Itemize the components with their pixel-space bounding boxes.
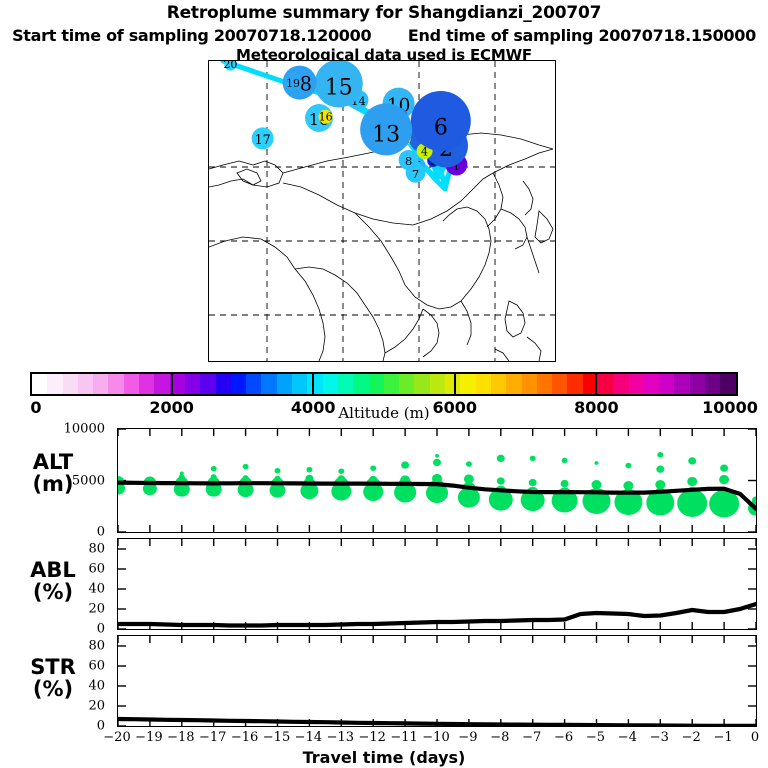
- x-tick-label--12: −12: [358, 730, 385, 745]
- colorbar-cell-32: [522, 374, 537, 394]
- day-marker-label: 8: [405, 154, 412, 168]
- alt-scatter-point: [370, 465, 376, 471]
- colorbar-cell-12: [216, 374, 231, 394]
- colorbar-cell-21: [353, 374, 368, 394]
- x-tick-label--19: −19: [135, 730, 162, 745]
- colorbar-cell-27: [445, 374, 460, 394]
- colorbar-cell-28: [460, 374, 475, 394]
- x-tick-label--2: −2: [682, 730, 701, 745]
- day-marker-20[interactable]: 20: [223, 61, 237, 71]
- colorbar-cell-8: [154, 374, 169, 394]
- x-tick-label--18: −18: [167, 730, 194, 745]
- alt-scatter-point: [625, 463, 631, 469]
- colorbar-cell-39: [629, 374, 644, 394]
- x-tick-label--9: −9: [458, 730, 477, 745]
- alt-scatter-point: [687, 477, 697, 486]
- sampling-times: Start time of sampling 20070718.120000 E…: [0, 26, 768, 45]
- colorbar-cell-43: [690, 374, 705, 394]
- colorbar-gradient: [30, 372, 738, 396]
- alt-scatter-point: [529, 479, 537, 486]
- colorbar-separator-2000: [171, 372, 173, 396]
- day-marker-13[interactable]: 13: [360, 103, 412, 155]
- colorbar-cell-33: [537, 374, 552, 394]
- abl-plot: [118, 539, 756, 629]
- alt-scatter-point: [497, 455, 505, 462]
- alt-scatter-point: [275, 476, 281, 482]
- colorbar-cell-13: [231, 374, 246, 394]
- alt-plot: [118, 429, 756, 532]
- alt-scatter-point: [433, 459, 441, 466]
- alt-scatter-point: [530, 456, 536, 462]
- travel-time-tick-labels: −20−19−18−17−16−15−14−13−12−11−10−9−8−7−…: [117, 730, 757, 748]
- colorbar-cell-30: [491, 374, 506, 394]
- x-tick-label--11: −11: [390, 730, 417, 745]
- abl-panel[interactable]: [117, 538, 757, 630]
- alt-scatter-point: [275, 468, 281, 474]
- alt-scatter-point: [435, 454, 439, 458]
- day-marker-label: 13: [372, 122, 400, 147]
- alt-scatter-point: [595, 461, 599, 465]
- alt-scatter-point: [719, 475, 729, 484]
- colorbar-cell-10: [185, 374, 200, 394]
- alt-scatter-point: [562, 458, 568, 464]
- alt-scatter-point: [720, 464, 728, 471]
- x-tick-label--7: −7: [522, 730, 541, 745]
- alt-scatter-point: [305, 475, 313, 482]
- colorbar-cell-6: [124, 374, 139, 394]
- alt-scatter-point: [338, 468, 344, 474]
- colorbar-cell-26: [430, 374, 445, 394]
- x-tick-label--8: −8: [490, 730, 509, 745]
- alt-scatter-point: [211, 474, 217, 480]
- alt-scatter-point: [180, 471, 184, 475]
- str-x-ticks: [118, 636, 756, 726]
- day-marker-label: 17: [255, 132, 271, 147]
- y-tick-label-20: 20: [88, 699, 113, 714]
- alt-scatter-point: [497, 477, 505, 484]
- colorbar-title: Altitude (m): [0, 404, 768, 422]
- colorbar-cell-19: [323, 374, 338, 394]
- end-time-label: End time of sampling 20070718.150000: [408, 26, 756, 45]
- alt-scatter-point: [306, 467, 312, 473]
- str-panel[interactable]: [117, 635, 757, 727]
- colorbar-cell-34: [552, 374, 567, 394]
- str-tick-labels: 020406080: [0, 0, 113, 768]
- colorbar-cell-14: [246, 374, 261, 394]
- day-marker-8[interactable]: 8: [399, 150, 419, 170]
- colorbar-cell-38: [613, 374, 628, 394]
- alt-scatter-point: [657, 452, 663, 458]
- alt-scatter-point: [592, 480, 602, 489]
- colorbar-cell-40: [644, 374, 659, 394]
- colorbar-cell-15: [261, 374, 276, 394]
- colorbar-separator-4000: [312, 372, 314, 396]
- day-marker-label: 15: [325, 76, 353, 101]
- alt-scatter-point: [655, 480, 665, 489]
- colorbar-cell-17: [292, 374, 307, 394]
- alt-scatter-point: [243, 464, 249, 470]
- alt-scatter-point: [677, 489, 707, 517]
- day-marker-label: 20: [223, 61, 237, 71]
- x-tick-label-0: 0: [751, 730, 759, 745]
- colorbar-cell-41: [659, 374, 674, 394]
- alt-scatter-point: [688, 457, 696, 464]
- x-tick-label--5: −5: [586, 730, 605, 745]
- colorbar-separator-8000: [595, 372, 597, 396]
- colorbar-cell-16: [277, 374, 292, 394]
- y-tick-label-80: 80: [88, 639, 113, 654]
- x-tick-label--20: −20: [103, 730, 130, 745]
- alt-scatter-point: [623, 481, 633, 490]
- colorbar-cell-7: [139, 374, 154, 394]
- colorbar-cell-44: [705, 374, 720, 394]
- alt-scatter-point: [401, 461, 409, 468]
- colorbar-cell-24: [399, 374, 414, 394]
- retroplume-map[interactable]: 1223456789101112131415161617181920: [208, 60, 556, 362]
- y-tick-label-40: 40: [88, 679, 113, 694]
- str-y-ticks: [118, 646, 756, 726]
- altitude-colorbar: 0200040006000800010000: [30, 372, 738, 396]
- colorbar-cell-42: [674, 374, 689, 394]
- alt-scatter-point: [464, 474, 474, 483]
- colorbar-cell-29: [476, 374, 491, 394]
- day-markers: 1223456789101112131415161617181920: [223, 61, 470, 183]
- day-marker-19[interactable]: 19: [284, 73, 302, 91]
- alt-scatter-point: [243, 475, 249, 481]
- day-marker-label: 16: [319, 111, 333, 124]
- colorbar-cell-25: [414, 374, 429, 394]
- colorbar-cell-22: [369, 374, 384, 394]
- map-svg: 1223456789101112131415161617181920: [209, 61, 555, 361]
- alt-scatter-point: [466, 461, 472, 467]
- colorbar-cell-11: [200, 374, 215, 394]
- alt-scatter-point: [211, 466, 217, 472]
- page-title: Retroplume summary for Shangdianzi_20070…: [0, 3, 768, 23]
- colorbar-cell-37: [598, 374, 613, 394]
- alt-scatter-point: [656, 465, 664, 472]
- day-marker-label: 6: [434, 116, 448, 141]
- day-marker-15[interactable]: 15: [315, 61, 363, 108]
- alt-scatter-point: [432, 474, 442, 483]
- colorbar-cell-23: [384, 374, 399, 394]
- x-tick-label--6: −6: [554, 730, 573, 745]
- str-plot: [118, 636, 756, 726]
- x-tick-label--1: −1: [714, 730, 733, 745]
- day-marker-16[interactable]: 16: [319, 110, 333, 124]
- colorbar-cell-45: [720, 374, 735, 394]
- y-tick-label-60: 60: [88, 659, 113, 674]
- day-marker-17[interactable]: 17: [252, 127, 274, 149]
- coastlines: [209, 133, 553, 361]
- colorbar-cell-31: [506, 374, 521, 394]
- alt-panel[interactable]: [117, 428, 757, 533]
- x-tick-label--16: −16: [231, 730, 258, 745]
- x-tick-label--14: −14: [295, 730, 322, 745]
- x-tick-label--10: −10: [422, 730, 449, 745]
- colorbar-cell-35: [567, 374, 582, 394]
- day-marker-label: 19: [286, 77, 300, 90]
- x-tick-label--15: −15: [263, 730, 290, 745]
- colorbar-cell-20: [338, 374, 353, 394]
- x-tick-label--17: −17: [199, 730, 226, 745]
- x-tick-label--13: −13: [327, 730, 354, 745]
- x-tick-label--4: −4: [618, 730, 637, 745]
- x-axis-title: Travel time (days): [0, 748, 768, 767]
- day-marker-6[interactable]: 6: [411, 91, 471, 151]
- colorbar-cell-18: [307, 374, 322, 394]
- alt-scatter-point: [561, 480, 569, 487]
- x-tick-label--3: −3: [650, 730, 669, 745]
- colorbar-separator-6000: [454, 372, 456, 396]
